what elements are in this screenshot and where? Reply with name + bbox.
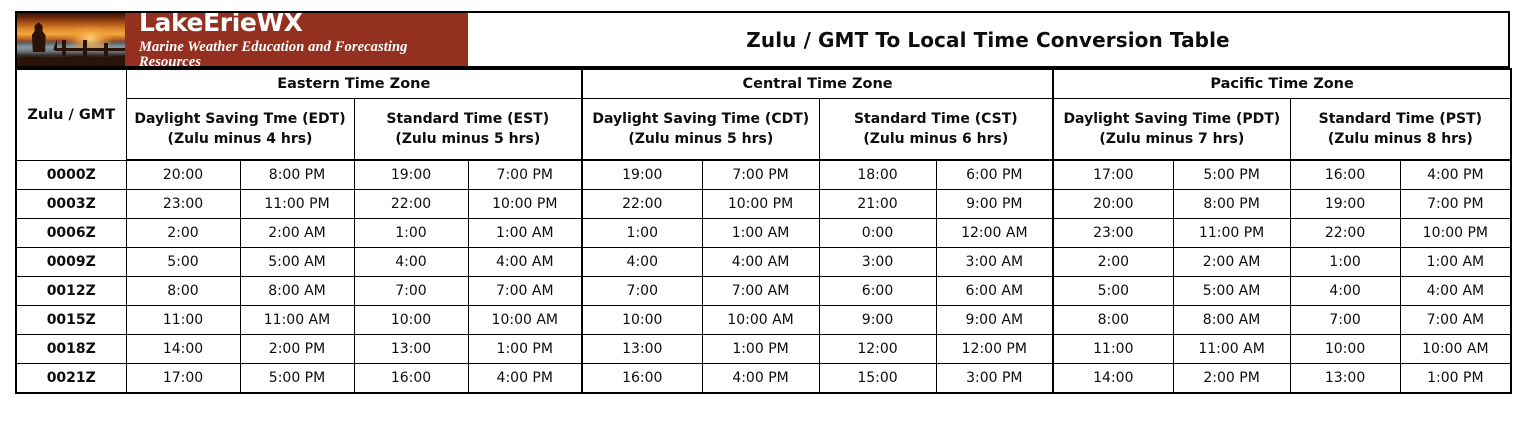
brand-name: LakeErieWX [139,13,468,35]
time-value-cell: 10:00 AM [702,306,819,335]
time-value-cell: 18:00 [819,160,936,190]
brand-text: LakeErieWX Marine Weather Education and … [125,13,468,66]
subheader-cdt-line2: (Zulu minus 5 hrs) [583,129,819,149]
time-value-cell: 2:00 [1053,248,1173,277]
time-value-cell: 2:00 PM [1173,364,1290,394]
time-value-cell: 8:00 AM [240,277,354,306]
subheader-est-line2: (Zulu minus 5 hrs) [355,129,582,149]
time-value-cell: 20:00 [1053,190,1173,219]
time-value-cell: 10:00 [582,306,702,335]
subheader-cst-line1: Standard Time (CST) [820,109,1053,129]
time-value-cell: 5:00 [1053,277,1173,306]
time-value-cell: 1:00 PM [468,335,582,364]
time-value-cell: 1:00 [354,219,468,248]
time-value-cell: 2:00 [126,219,240,248]
time-value-cell: 4:00 [582,248,702,277]
subheader-cst: Standard Time (CST) (Zulu minus 6 hrs) [819,99,1053,161]
time-value-cell: 11:00 AM [240,306,354,335]
time-value-cell: 9:00 [819,306,936,335]
time-value-cell: 2:00 AM [1173,248,1290,277]
subheader-pst-line1: Standard Time (PST) [1291,109,1511,129]
time-value-cell: 14:00 [126,335,240,364]
time-value-cell: 23:00 [126,190,240,219]
zulu-time-cell: 0009Z [16,248,126,277]
time-value-cell: 7:00 [1290,306,1400,335]
time-value-cell: 11:00 PM [1173,219,1290,248]
time-value-cell: 5:00 PM [240,364,354,394]
zulu-time-cell: 0018Z [16,335,126,364]
time-value-cell: 1:00 AM [468,219,582,248]
time-value-cell: 9:00 PM [936,190,1053,219]
time-value-cell: 14:00 [1053,364,1173,394]
pier-post-icon [104,43,108,56]
time-value-cell: 11:00 PM [240,190,354,219]
time-value-cell: 22:00 [1290,219,1400,248]
lighthouse-icon [28,22,50,52]
time-value-cell: 1:00 PM [1400,364,1511,394]
subheader-pdt-line1: Daylight Saving Time (PDT) [1054,109,1290,129]
zone-header-central: Central Time Zone [582,69,1053,99]
time-value-cell: 2:00 AM [240,219,354,248]
time-value-cell: 7:00 [354,277,468,306]
time-value-cell: 10:00 PM [1400,219,1511,248]
time-value-cell: 19:00 [1290,190,1400,219]
time-value-cell: 10:00 PM [468,190,582,219]
subheader-pdt: Daylight Saving Time (PDT) (Zulu minus 7… [1053,99,1290,161]
zulu-time-cell: 0021Z [16,364,126,394]
time-value-cell: 1:00 PM [702,335,819,364]
time-value-cell: 4:00 PM [468,364,582,394]
time-value-cell: 1:00 [1290,248,1400,277]
time-value-cell: 17:00 [1053,160,1173,190]
time-value-cell: 13:00 [354,335,468,364]
time-value-cell: 5:00 [126,248,240,277]
time-value-cell: 7:00 PM [468,160,582,190]
subheader-est-line1: Standard Time (EST) [355,109,582,129]
time-value-cell: 16:00 [354,364,468,394]
time-value-cell: 7:00 AM [1400,306,1511,335]
time-value-cell: 7:00 [582,277,702,306]
time-value-cell: 12:00 [819,335,936,364]
zulu-time-cell: 0000Z [16,160,126,190]
table-row: 0015Z11:0011:00 AM10:0010:00 AM10:0010:0… [16,306,1511,335]
subheader-pdt-line2: (Zulu minus 7 hrs) [1054,129,1290,149]
time-value-cell: 8:00 PM [240,160,354,190]
conversion-table-page: LakeErieWX Marine Weather Education and … [0,0,1527,438]
time-value-cell: 17:00 [126,364,240,394]
time-value-cell: 5:00 PM [1173,160,1290,190]
time-value-cell: 4:00 AM [468,248,582,277]
table-row: 0021Z17:005:00 PM16:004:00 PM16:004:00 P… [16,364,1511,394]
time-value-cell: 23:00 [1053,219,1173,248]
time-value-cell: 21:00 [819,190,936,219]
time-value-cell: 9:00 AM [936,306,1053,335]
time-value-cell: 10:00 PM [702,190,819,219]
time-value-cell: 16:00 [1290,160,1400,190]
time-value-cell: 4:00 AM [1400,277,1511,306]
time-value-cell: 0:00 [819,219,936,248]
subheader-row: Daylight Saving Tme (EDT) (Zulu minus 4 … [16,99,1511,161]
zulu-time-cell: 0015Z [16,306,126,335]
time-value-cell: 7:00 AM [468,277,582,306]
time-value-cell: 4:00 AM [702,248,819,277]
time-value-cell: 13:00 [582,335,702,364]
brand-logo-cell[interactable]: LakeErieWX Marine Weather Education and … [17,13,468,66]
time-value-cell: 7:00 PM [702,160,819,190]
time-value-cell: 1:00 [582,219,702,248]
subheader-pst: Standard Time (PST) (Zulu minus 8 hrs) [1290,99,1511,161]
time-value-cell: 8:00 [1053,306,1173,335]
table-row: 0003Z23:0011:00 PM22:0010:00 PM22:0010:0… [16,190,1511,219]
time-value-cell: 3:00 PM [936,364,1053,394]
table-row: 0018Z14:002:00 PM13:001:00 PM13:001:00 P… [16,335,1511,364]
zone-header-pacific: Pacific Time Zone [1053,69,1511,99]
time-value-cell: 5:00 AM [1173,277,1290,306]
sunset-lighthouse-photo-icon [17,13,125,66]
time-value-cell: 4:00 [354,248,468,277]
time-value-cell: 10:00 AM [1400,335,1511,364]
time-value-cell: 19:00 [354,160,468,190]
pier-post-icon [62,40,66,56]
table-row: 0000Z20:008:00 PM19:007:00 PM19:007:00 P… [16,160,1511,190]
subheader-pst-line2: (Zulu minus 8 hrs) [1291,129,1511,149]
time-value-cell: 11:00 [1053,335,1173,364]
table-row: 0009Z5:005:00 AM4:004:00 AM4:004:00 AM3:… [16,248,1511,277]
time-value-cell: 8:00 [126,277,240,306]
subheader-cdt: Daylight Saving Time (CDT) (Zulu minus 5… [582,99,819,161]
time-value-cell: 11:00 AM [1173,335,1290,364]
time-value-cell: 12:00 AM [936,219,1053,248]
time-value-cell: 10:00 [1290,335,1400,364]
page-title-cell: Zulu / GMT To Local Time Conversion Tabl… [468,13,1508,66]
time-value-cell: 12:00 PM [936,335,1053,364]
table-row: 0006Z2:002:00 AM1:001:00 AM1:001:00 AM0:… [16,219,1511,248]
time-value-cell: 7:00 AM [702,277,819,306]
banner-row: LakeErieWX Marine Weather Education and … [15,11,1510,68]
time-value-cell: 19:00 [582,160,702,190]
time-value-cell: 3:00 [819,248,936,277]
zulu-time-cell: 0003Z [16,190,126,219]
corner-header: Zulu / GMT [16,69,126,160]
time-value-cell: 2:00 PM [240,335,354,364]
time-value-cell: 8:00 PM [1173,190,1290,219]
time-value-cell: 5:00 AM [240,248,354,277]
time-value-cell: 11:00 [126,306,240,335]
time-value-cell: 8:00 AM [1173,306,1290,335]
time-value-cell: 3:00 AM [936,248,1053,277]
brand-tagline: Marine Weather Education and Forecasting… [139,40,468,66]
time-value-cell: 10:00 AM [468,306,582,335]
time-value-cell: 20:00 [126,160,240,190]
subheader-edt-line2: (Zulu minus 4 hrs) [127,129,354,149]
page-title: Zulu / GMT To Local Time Conversion Tabl… [746,28,1229,52]
zone-header-eastern: Eastern Time Zone [126,69,582,99]
time-value-cell: 22:00 [354,190,468,219]
time-value-cell: 15:00 [819,364,936,394]
time-value-cell: 22:00 [582,190,702,219]
zulu-time-cell: 0012Z [16,277,126,306]
zulu-time-cell: 0006Z [16,219,126,248]
table-row: 0012Z8:008:00 AM7:007:00 AM7:007:00 AM6:… [16,277,1511,306]
subheader-cst-line2: (Zulu minus 6 hrs) [820,129,1053,149]
shoreline-icon [17,52,125,66]
time-value-cell: 7:00 PM [1400,190,1511,219]
subheader-edt: Daylight Saving Tme (EDT) (Zulu minus 4 … [126,99,354,161]
zulu-conversion-table: Zulu / GMT Eastern Time Zone Central Tim… [15,68,1512,394]
time-value-cell: 4:00 [1290,277,1400,306]
time-value-cell: 6:00 [819,277,936,306]
pier-post-icon [83,40,87,56]
time-value-cell: 6:00 AM [936,277,1053,306]
subheader-cdt-line1: Daylight Saving Time (CDT) [583,109,819,129]
time-value-cell: 1:00 AM [702,219,819,248]
time-value-cell: 13:00 [1290,364,1400,394]
time-value-cell: 4:00 PM [1400,160,1511,190]
time-value-cell: 4:00 PM [702,364,819,394]
zone-header-row: Zulu / GMT Eastern Time Zone Central Tim… [16,69,1511,99]
time-value-cell: 6:00 PM [936,160,1053,190]
table-body: 0000Z20:008:00 PM19:007:00 PM19:007:00 P… [16,160,1511,393]
subheader-edt-line1: Daylight Saving Tme (EDT) [127,109,354,129]
time-value-cell: 10:00 [354,306,468,335]
time-value-cell: 1:00 AM [1400,248,1511,277]
subheader-est: Standard Time (EST) (Zulu minus 5 hrs) [354,99,582,161]
time-value-cell: 16:00 [582,364,702,394]
